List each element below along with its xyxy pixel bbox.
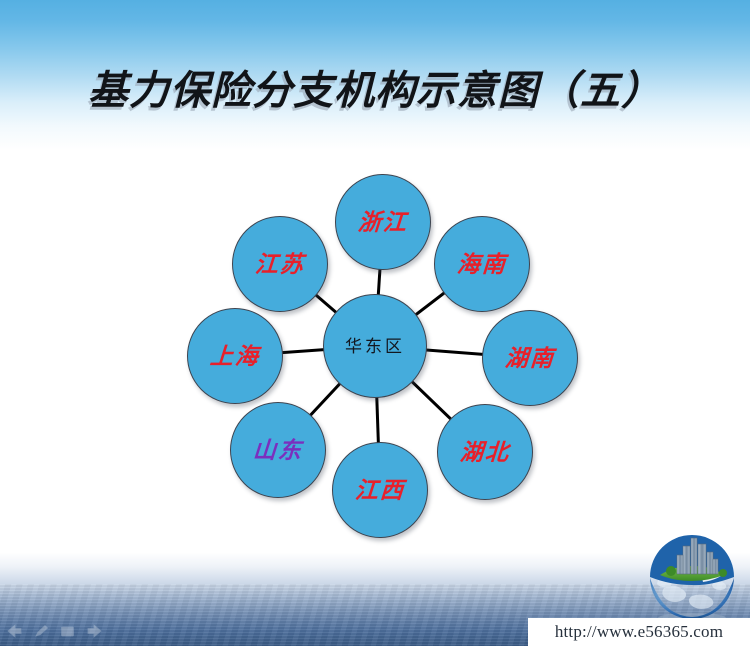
slide-title: 基力保险分支机构示意图（五）: [0, 58, 750, 116]
node-label-hubei: 湖北: [459, 441, 511, 464]
node-hub-huadongqu[interactable]: 华东区: [323, 294, 427, 398]
presentation-slide: 基力保险分支机构示意图（五） 浙江 海南 湖南 湖北: [0, 0, 750, 646]
next-arrow-icon[interactable]: [86, 624, 103, 638]
node-label-shanghai: 上海: [209, 345, 261, 368]
node-shandong[interactable]: 山东: [230, 402, 326, 498]
node-label-shandong: 山东: [252, 439, 304, 462]
node-label-hunan: 湖南: [504, 347, 556, 370]
node-label-jiangxi: 江西: [354, 479, 406, 502]
globe-city-logo: [640, 530, 744, 626]
node-shanghai[interactable]: 上海: [187, 308, 283, 404]
node-hunan[interactable]: 湖南: [482, 310, 578, 406]
org-chart-diagram: 浙江 海南 湖南 湖北 江西 山东 上海 江苏 华东区: [155, 160, 595, 530]
node-label-hainan: 海南: [456, 253, 508, 276]
node-jiangxi[interactable]: 江西: [332, 442, 428, 538]
node-zhejiang[interactable]: 浙江: [335, 174, 431, 270]
menu-box-icon[interactable]: [60, 625, 75, 638]
slideshow-nav-icons[interactable]: [6, 621, 116, 641]
node-hubei[interactable]: 湖北: [437, 404, 533, 500]
node-hainan[interactable]: 海南: [434, 216, 530, 312]
pen-icon[interactable]: [34, 624, 49, 638]
node-label-zhejiang: 浙江: [357, 211, 409, 234]
previous-arrow-icon[interactable]: [6, 624, 23, 638]
node-label-huadongqu: 华东区: [345, 338, 405, 355]
node-label-jiangsu: 江苏: [254, 253, 306, 276]
node-jiangsu[interactable]: 江苏: [232, 216, 328, 312]
watermark-url: http://www.e56365.com: [555, 622, 723, 642]
site-watermark: http://www.e56365.com: [528, 618, 750, 646]
